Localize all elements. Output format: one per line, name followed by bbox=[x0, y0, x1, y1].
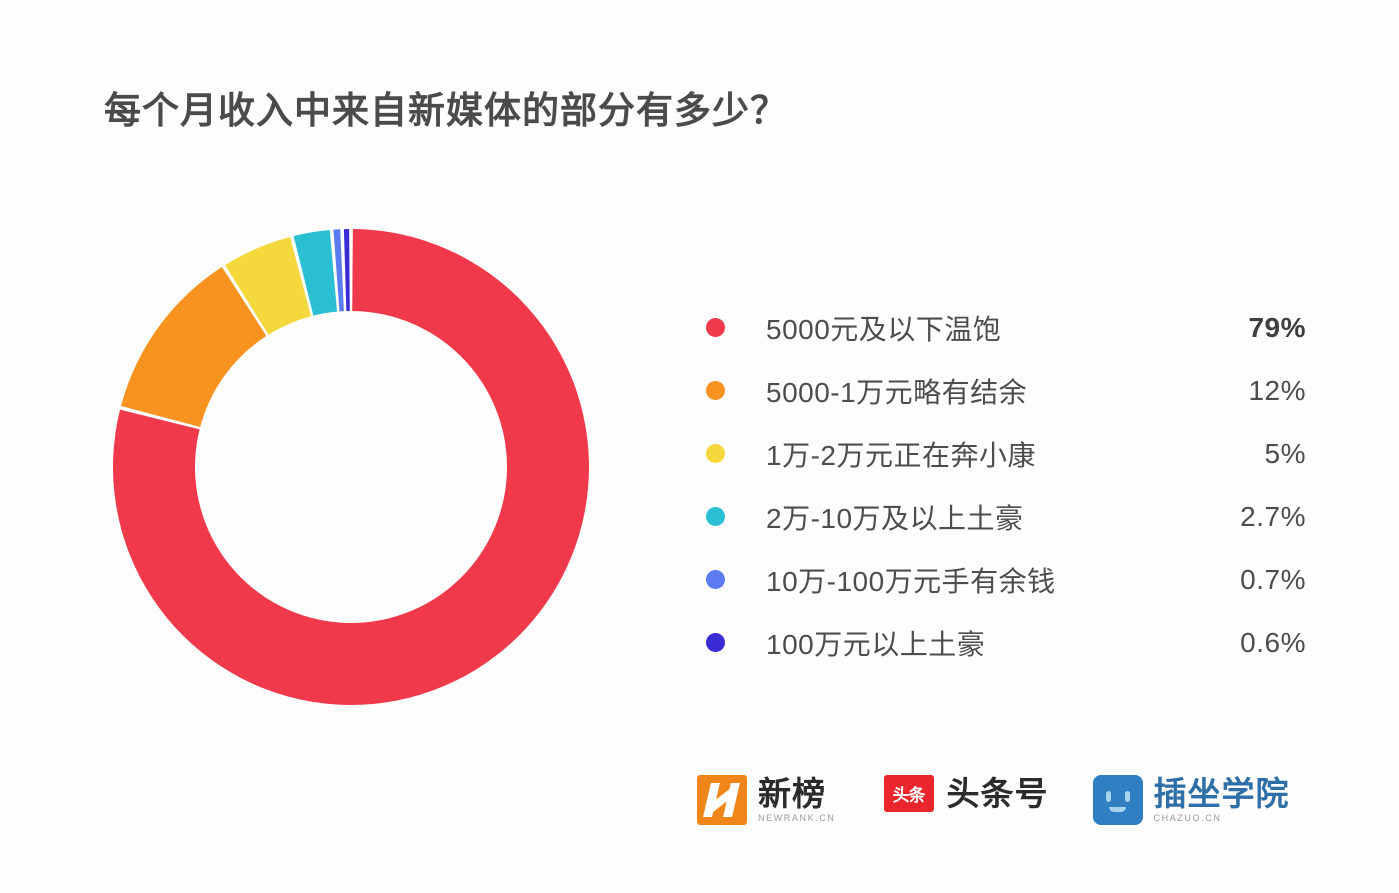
legend-item-label: 1万-2万元正在奔小康 bbox=[766, 434, 1186, 474]
legend-item-label: 100万元以上土豪 bbox=[766, 623, 1186, 663]
logo-newrank: 新榜 NEWRANK.CN bbox=[697, 775, 836, 825]
legend-color-swatch-icon bbox=[706, 507, 725, 526]
donut-chart-svg bbox=[113, 229, 589, 705]
legend-item[interactable]: 5000-1万元略有结余12% bbox=[706, 359, 1306, 422]
partner-logos: 新榜 NEWRANK.CN 头条 头条号 插坐学院 CHAZUO.CN bbox=[697, 775, 1290, 825]
legend-color-swatch-icon bbox=[706, 318, 725, 337]
slide-canvas: 每个月收入中来自新媒体的部分有多少？ 5000元及以下温饱79%5000-1万元… bbox=[0, 0, 1399, 893]
legend-item[interactable]: 100万元以上土豪0.6% bbox=[706, 611, 1306, 674]
logo-chazuo: 插坐学院 CHAZUO.CN bbox=[1093, 775, 1290, 825]
legend-item[interactable]: 5000元及以下温饱79% bbox=[706, 296, 1306, 359]
legend-item-value: 2.7% bbox=[1186, 501, 1306, 533]
legend-item-label: 2万-10万及以上土豪 bbox=[766, 497, 1186, 537]
chart-legend: 5000元及以下温饱79%5000-1万元略有结余12%1万-2万元正在奔小康5… bbox=[706, 296, 1306, 674]
legend-color-swatch-icon bbox=[706, 444, 725, 463]
legend-item-value: 0.7% bbox=[1186, 564, 1306, 596]
donut-chart bbox=[113, 229, 589, 705]
legend-item-label: 10万-100万元手有余钱 bbox=[766, 560, 1186, 600]
legend-item[interactable]: 1万-2万元正在奔小康5% bbox=[706, 422, 1306, 485]
page-title: 每个月收入中来自新媒体的部分有多少？ bbox=[104, 80, 788, 134]
legend-item-label: 5000元及以下温饱 bbox=[766, 308, 1186, 348]
chazuo-face-mark-icon bbox=[1093, 775, 1143, 825]
toutiao-square-mark-icon: 头条 bbox=[884, 775, 934, 812]
legend-item-value: 12% bbox=[1186, 375, 1306, 407]
legend-item-label: 5000-1万元略有结余 bbox=[766, 371, 1186, 411]
legend-item-value: 5% bbox=[1186, 438, 1306, 470]
donut-slice[interactable] bbox=[344, 229, 350, 311]
legend-item-value: 0.6% bbox=[1186, 627, 1306, 659]
logo-toutiao-name: 头条号 bbox=[947, 777, 1049, 810]
legend-color-swatch-icon bbox=[706, 381, 725, 400]
legend-item-value: 79% bbox=[1186, 312, 1306, 344]
legend-item[interactable]: 2万-10万及以上土豪2.7% bbox=[706, 485, 1306, 548]
logo-newrank-sub: NEWRANK.CN bbox=[758, 814, 836, 823]
logo-chazuo-sub: CHAZUO.CN bbox=[1154, 814, 1290, 823]
legend-color-swatch-icon bbox=[706, 633, 725, 652]
logo-toutiao: 头条 头条号 bbox=[884, 775, 1049, 812]
newrank-z-mark-icon bbox=[697, 775, 747, 825]
logo-chazuo-name: 插坐学院 bbox=[1154, 777, 1290, 810]
legend-item[interactable]: 10万-100万元手有余钱0.7% bbox=[706, 548, 1306, 611]
legend-color-swatch-icon bbox=[706, 570, 725, 589]
logo-newrank-name: 新榜 bbox=[758, 777, 836, 810]
